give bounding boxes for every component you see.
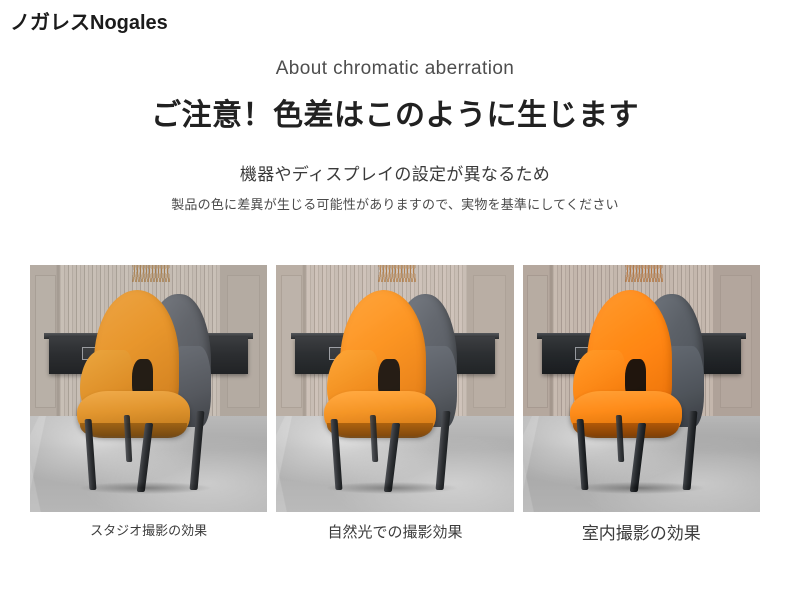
chair-seat-underside xyxy=(327,423,433,437)
product-photo-indoor[interactable] xyxy=(523,265,760,512)
chair-seat-underside xyxy=(80,423,186,437)
caption-studio: スタジオ撮影の効果 xyxy=(30,523,267,545)
armchair xyxy=(570,290,722,493)
caption-daylight: 自然光での撮影効果 xyxy=(276,523,513,545)
gallery-captions: スタジオ撮影の効果 自然光での撮影効果 室内撮影の効果 xyxy=(30,523,760,545)
page-title: ご注意！色差はこのように生じます xyxy=(0,97,790,135)
fringe-light-fixture xyxy=(132,265,170,282)
product-photo-daylight[interactable] xyxy=(276,265,513,512)
fringe-light-fixture xyxy=(378,265,416,282)
chair-scene xyxy=(30,265,267,512)
caption-indoor: 室内撮影の効果 xyxy=(523,523,760,545)
section-eyebrow: About chromatic aberration xyxy=(0,58,790,81)
armchair xyxy=(324,290,476,493)
chair-scene xyxy=(523,265,760,512)
product-photo-studio[interactable] xyxy=(30,265,267,512)
chair-floor-shadow xyxy=(327,482,458,494)
armchair xyxy=(77,290,229,493)
brand-name: ノガレスNogales xyxy=(10,6,168,35)
chair-floor-shadow xyxy=(573,482,704,494)
fringe-light-fixture xyxy=(625,265,663,282)
chair-scene xyxy=(276,265,513,512)
subtitle-lead: 機器やディスプレイの設定が異なるため xyxy=(0,164,790,186)
heading-block: About chromatic aberration ご注意！色差はこのように生… xyxy=(0,58,790,214)
chair-floor-shadow xyxy=(80,482,211,494)
subtitle-note: 製品の色に差異が生じる可能性がありますので、実物を基準にしてください xyxy=(0,197,790,214)
comparison-gallery xyxy=(30,265,760,512)
chair-seat-underside xyxy=(573,423,679,437)
